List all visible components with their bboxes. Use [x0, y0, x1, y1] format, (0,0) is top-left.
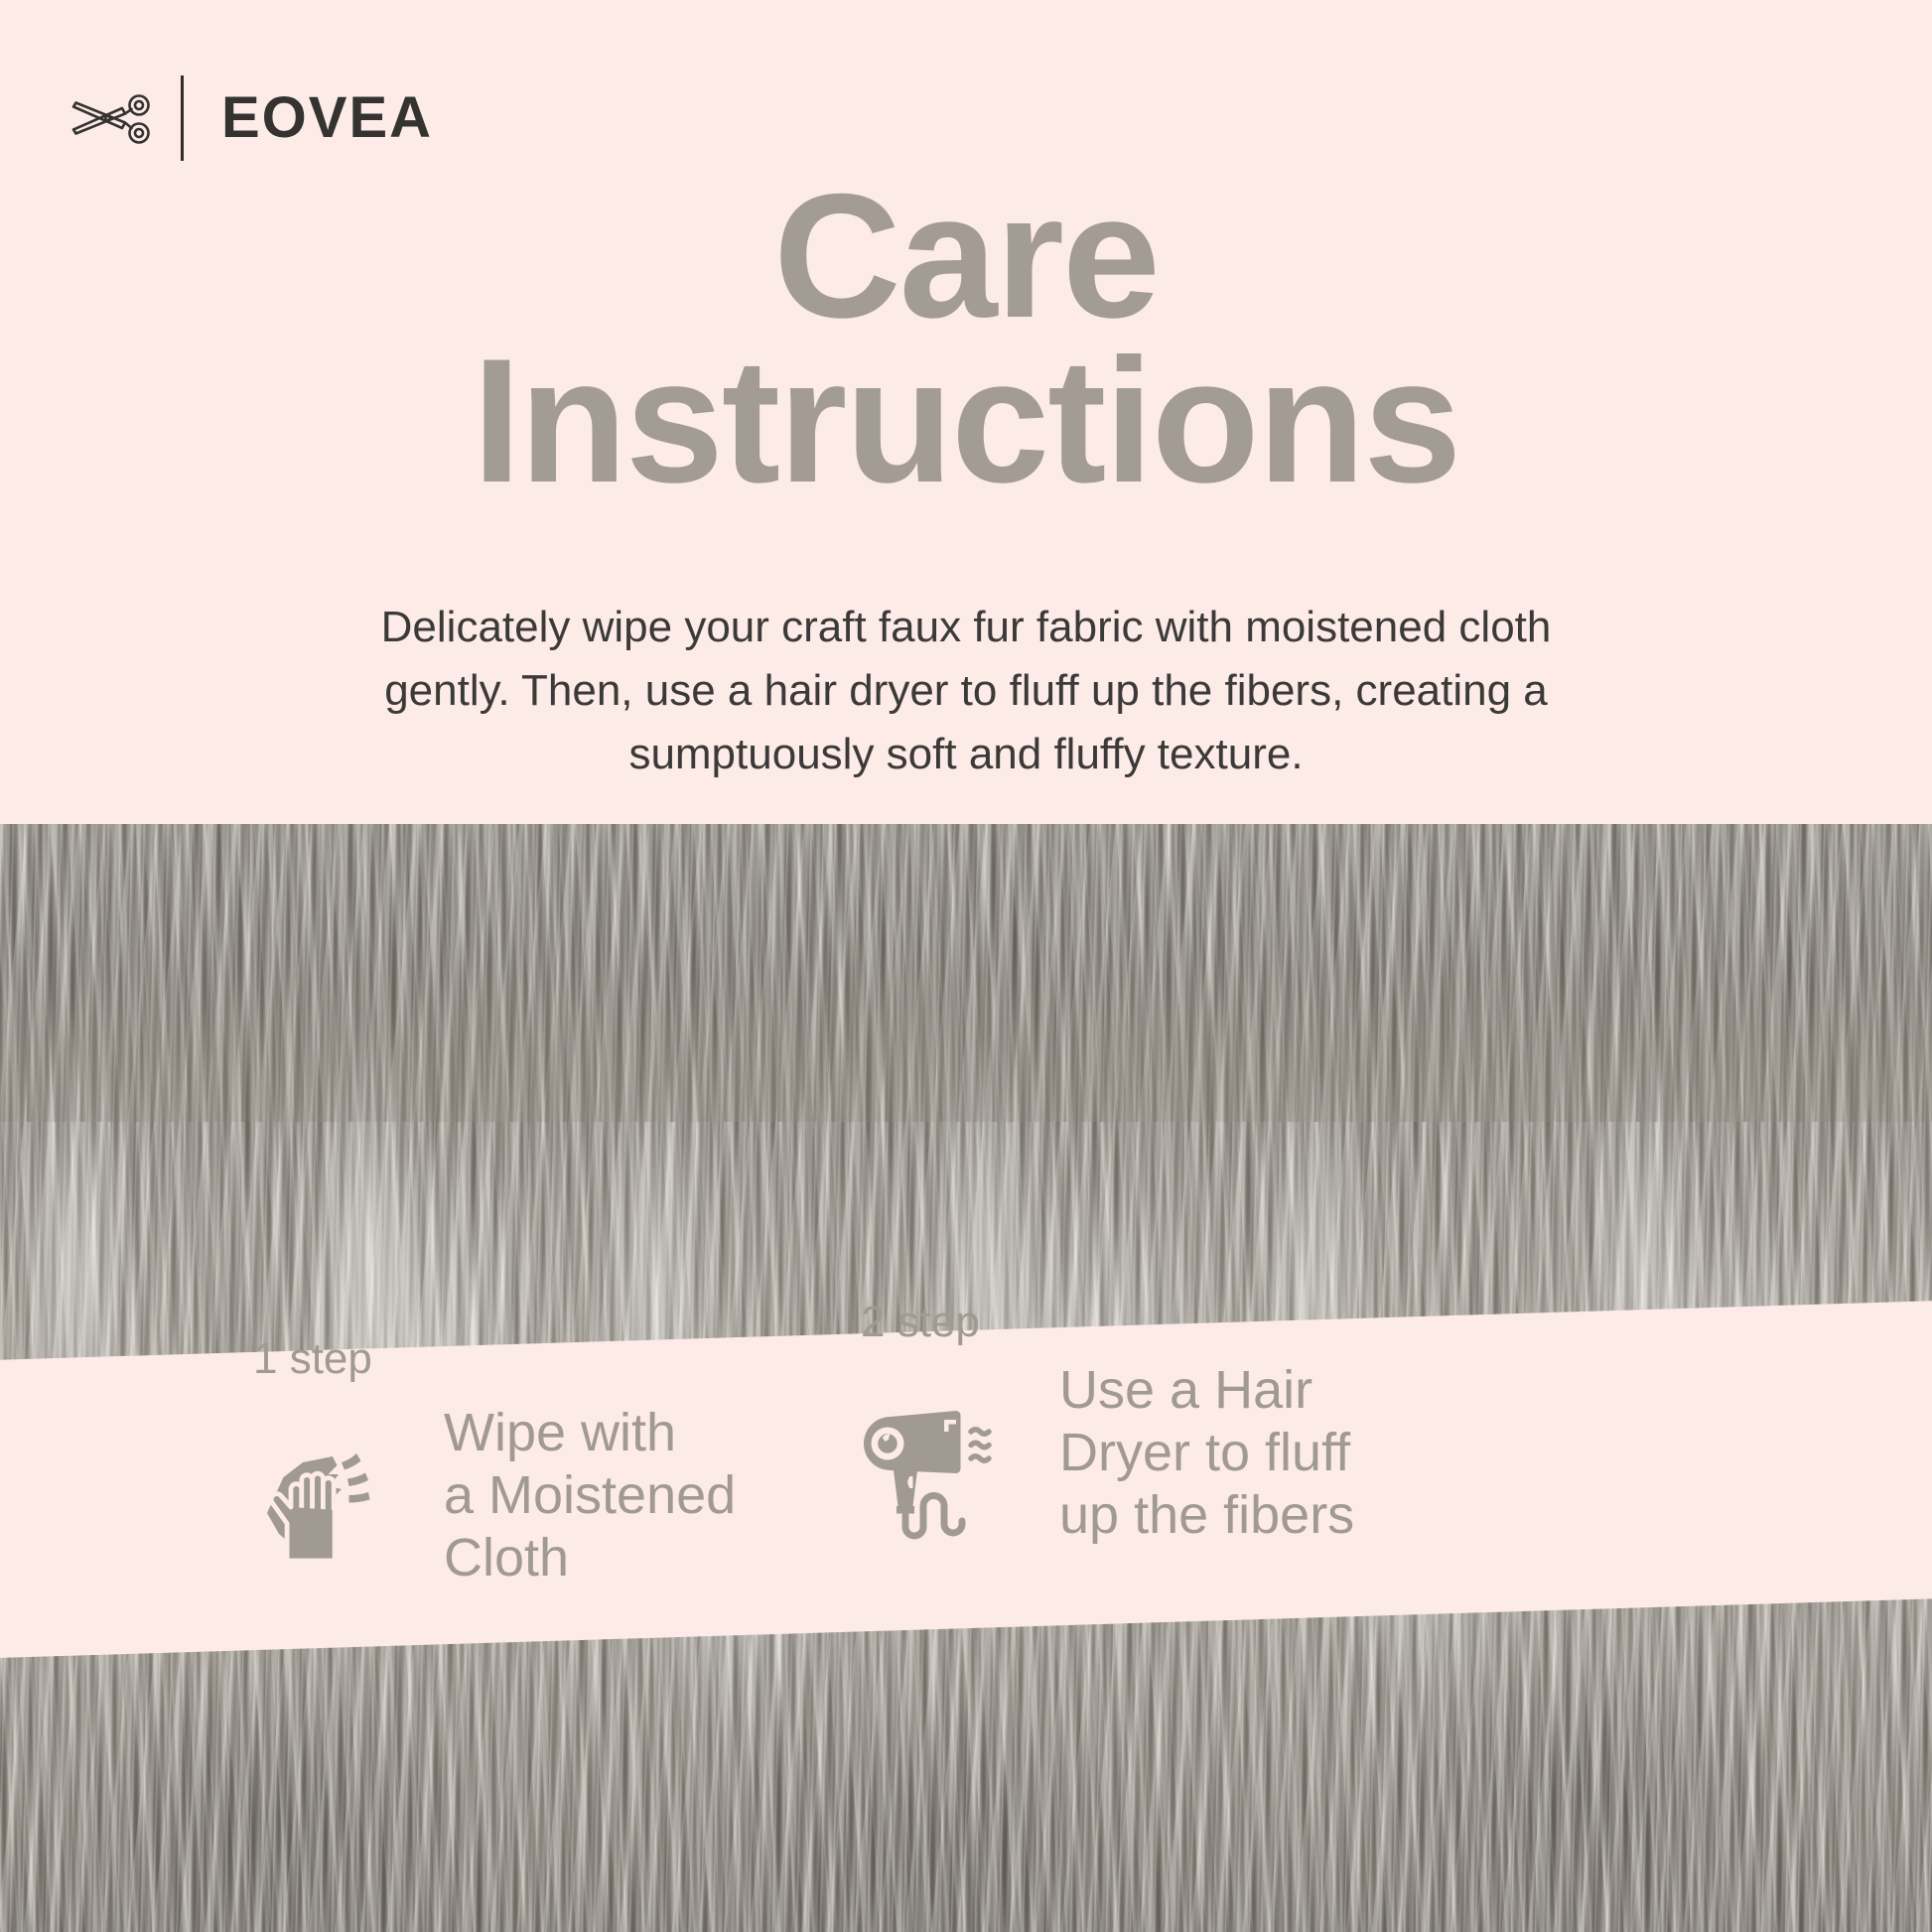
hand-wiping-cloth-icon	[243, 1430, 392, 1579]
step-1-label: 1 step	[253, 1334, 372, 1384]
brand-logo[interactable]: EOVEA	[68, 71, 433, 165]
step-2-label: 2 step	[861, 1298, 980, 1347]
intro-paragraph: Delicately wipe your craft faux fur fabr…	[370, 596, 1562, 787]
scissors-icon	[68, 87, 153, 149]
care-instructions-poster: EOVEA Care Instructions Delicately wipe …	[0, 0, 1932, 1932]
step-2: 2 step	[849, 1345, 1354, 1548]
step-1: 1 step	[243, 1380, 736, 1590]
title-line-2: Instructions	[0, 339, 1932, 503]
logo-divider	[181, 75, 184, 161]
hair-dryer-icon	[849, 1393, 998, 1542]
title-line-1: Care	[0, 174, 1932, 339]
steps-banner: 1 step	[0, 1299, 1932, 1659]
brand-name: EOVEA	[221, 89, 433, 147]
step-1-text: Wipe with a Moistened Cloth	[444, 1402, 736, 1590]
page-title: Care Instructions	[0, 174, 1932, 502]
fur-tip-fade	[0, 824, 1932, 1122]
step-2-text: Use a Hair Dryer to fluff up the fibers	[1059, 1359, 1354, 1548]
